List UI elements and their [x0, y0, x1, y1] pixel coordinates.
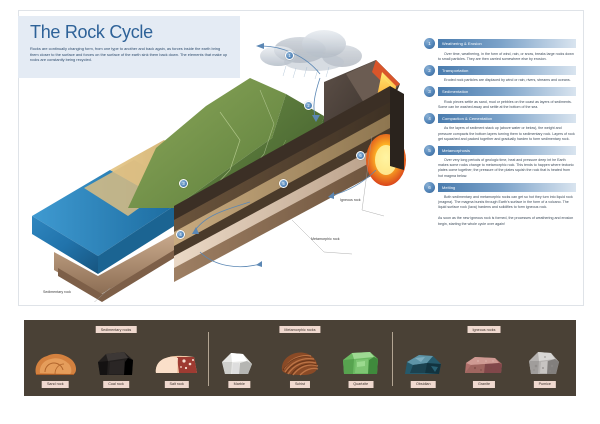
rock-item-pumice[interactable]	[517, 348, 573, 378]
rock-label-marble: Marble	[229, 381, 250, 388]
rock-specimen-panel: Sedimentary rocks	[24, 320, 576, 396]
step-number-badge: 5	[424, 145, 435, 156]
marble-rock-icon	[219, 348, 259, 378]
obsidian-rock-icon	[401, 350, 445, 378]
step-title: Melting	[442, 185, 455, 190]
step-item[interactable]: 6 Melting Both sedimentary and metamorph…	[424, 182, 576, 211]
intro-paragraph: Rocks are continually changing form, fro…	[30, 46, 228, 63]
step-header: 6 Melting	[424, 182, 576, 193]
rock-row	[24, 338, 208, 378]
rock-label-sand: Sand rock	[42, 381, 69, 388]
rock-item-sand[interactable]	[27, 348, 83, 378]
step-title-bar: Transportation	[438, 66, 576, 75]
step-item[interactable]: 5 Metamorphosis Over very long periods o…	[424, 145, 576, 179]
callout-3[interactable]: 3	[179, 179, 188, 188]
step-title: Weathering & Erosion	[442, 41, 482, 46]
pumice-rock-icon	[525, 348, 565, 378]
callout-6[interactable]: 6	[356, 151, 365, 160]
rock-item-salt[interactable]	[149, 348, 205, 378]
step-number-badge: 6	[424, 182, 435, 193]
step-title-bar: Weathering & Erosion	[438, 39, 576, 48]
closing-paragraph: As soon as the new igneous rock is forme…	[438, 216, 574, 226]
quartzite-rock-icon	[339, 348, 383, 378]
slab-end-cap	[390, 86, 404, 170]
step-header: 3 Sedimentation	[424, 86, 576, 97]
step-header: 4 Compaction & Cementation	[424, 113, 576, 124]
rock-item-quartzite[interactable]	[333, 348, 389, 378]
step-item[interactable]: 2 Transportation Eroded rock particles a…	[424, 65, 576, 84]
rock-label-coal: Coal rock	[103, 381, 129, 388]
rock-label-obsidian: Obsidian	[411, 381, 436, 388]
step-title: Sedimentation	[442, 89, 468, 94]
step-body: Rock pieces settle as sand, mud or pebbl…	[438, 100, 576, 110]
rock-label-schist: Schist	[290, 381, 310, 388]
step-header: 5 Metamorphosis	[424, 145, 576, 156]
sand-rock-icon	[31, 348, 79, 378]
step-body: Both sedimentary and metamorphic rocks c…	[438, 195, 576, 210]
step-title-bar: Compaction & Cementation	[438, 114, 576, 123]
step-title: Transportation	[442, 68, 468, 73]
rock-label-salt: Salt rock	[165, 381, 189, 388]
rock-item-granite[interactable]	[456, 350, 512, 378]
rock-cycle-poster: 1 2 3 4 5 6 Igneous rock Metamorphic roc…	[0, 0, 600, 424]
title-block: The Rock Cycle Rocks are continually cha…	[18, 16, 240, 78]
step-title: Compaction & Cementation	[442, 116, 492, 121]
step-number-badge: 2	[424, 65, 435, 76]
rock-label-pumice: Pumice	[534, 381, 556, 388]
page-title: The Rock Cycle	[30, 22, 232, 42]
step-title-bar: Melting	[438, 183, 576, 192]
group-label: Metamorphic rocks	[279, 326, 320, 333]
step-body: Over very long periods of geologic time,…	[438, 158, 576, 178]
step-title-bar: Metamorphosis	[438, 146, 576, 155]
rock-row	[392, 338, 576, 378]
rock-label-granite: Granite	[473, 381, 495, 388]
step-header: 1 Weathering & Erosion	[424, 38, 576, 49]
coal-rock-icon	[94, 348, 138, 378]
step-item[interactable]: 1 Weathering & Erosion Over time, weathe…	[424, 38, 576, 62]
rock-item-schist[interactable]	[272, 348, 328, 378]
callout-1[interactable]: 1	[285, 51, 294, 60]
step-header: 2 Transportation	[424, 65, 576, 76]
step-title-bar: Sedimentation	[438, 87, 576, 96]
step-number-badge: 4	[424, 113, 435, 124]
rock-item-coal[interactable]	[88, 348, 144, 378]
step-item[interactable]: 4 Compaction & Cementation As the layers…	[424, 113, 576, 142]
group-label: Igneous rocks	[468, 326, 501, 333]
step-number-badge: 3	[424, 86, 435, 97]
step-body: Over time, weathering, in the form of wi…	[438, 52, 576, 62]
step-number-badge: 1	[424, 38, 435, 49]
label-metamorphic-rock: Metamorphic rock	[311, 237, 340, 241]
rock-label-quartzite: Quartzite	[348, 381, 373, 388]
step-body: Eroded rock particles are displaced by w…	[438, 78, 576, 83]
granite-rock-icon	[461, 350, 507, 378]
callout-5[interactable]: 5	[279, 179, 288, 188]
step-item[interactable]: 3 Sedimentation Rock pieces settle as sa…	[424, 86, 576, 110]
specimen-group-sedimentary: Sedimentary rocks	[24, 320, 208, 396]
steps-list: 1 Weathering & Erosion Over time, weathe…	[424, 38, 576, 227]
specimen-group-metamorphic: Metamorphic rocks	[208, 320, 392, 396]
step-body: As the layers of sediment stack up (abov…	[438, 126, 576, 141]
rock-item-obsidian[interactable]	[395, 350, 451, 378]
rock-row	[208, 338, 392, 378]
specimen-group-igneous: Igneous rocks	[392, 320, 576, 396]
rock-item-marble[interactable]	[211, 348, 267, 378]
callout-4[interactable]: 4	[176, 230, 185, 239]
label-sedimentary-rock: Sedimentary rock	[43, 290, 71, 294]
group-label: Sedimentary rocks	[96, 326, 137, 333]
schist-rock-icon	[277, 348, 323, 378]
salt-rock-icon	[153, 348, 201, 378]
callout-2[interactable]: 2	[304, 101, 313, 110]
label-igneous-rock: Igneous rock	[340, 198, 361, 202]
step-title: Metamorphosis	[442, 148, 470, 153]
